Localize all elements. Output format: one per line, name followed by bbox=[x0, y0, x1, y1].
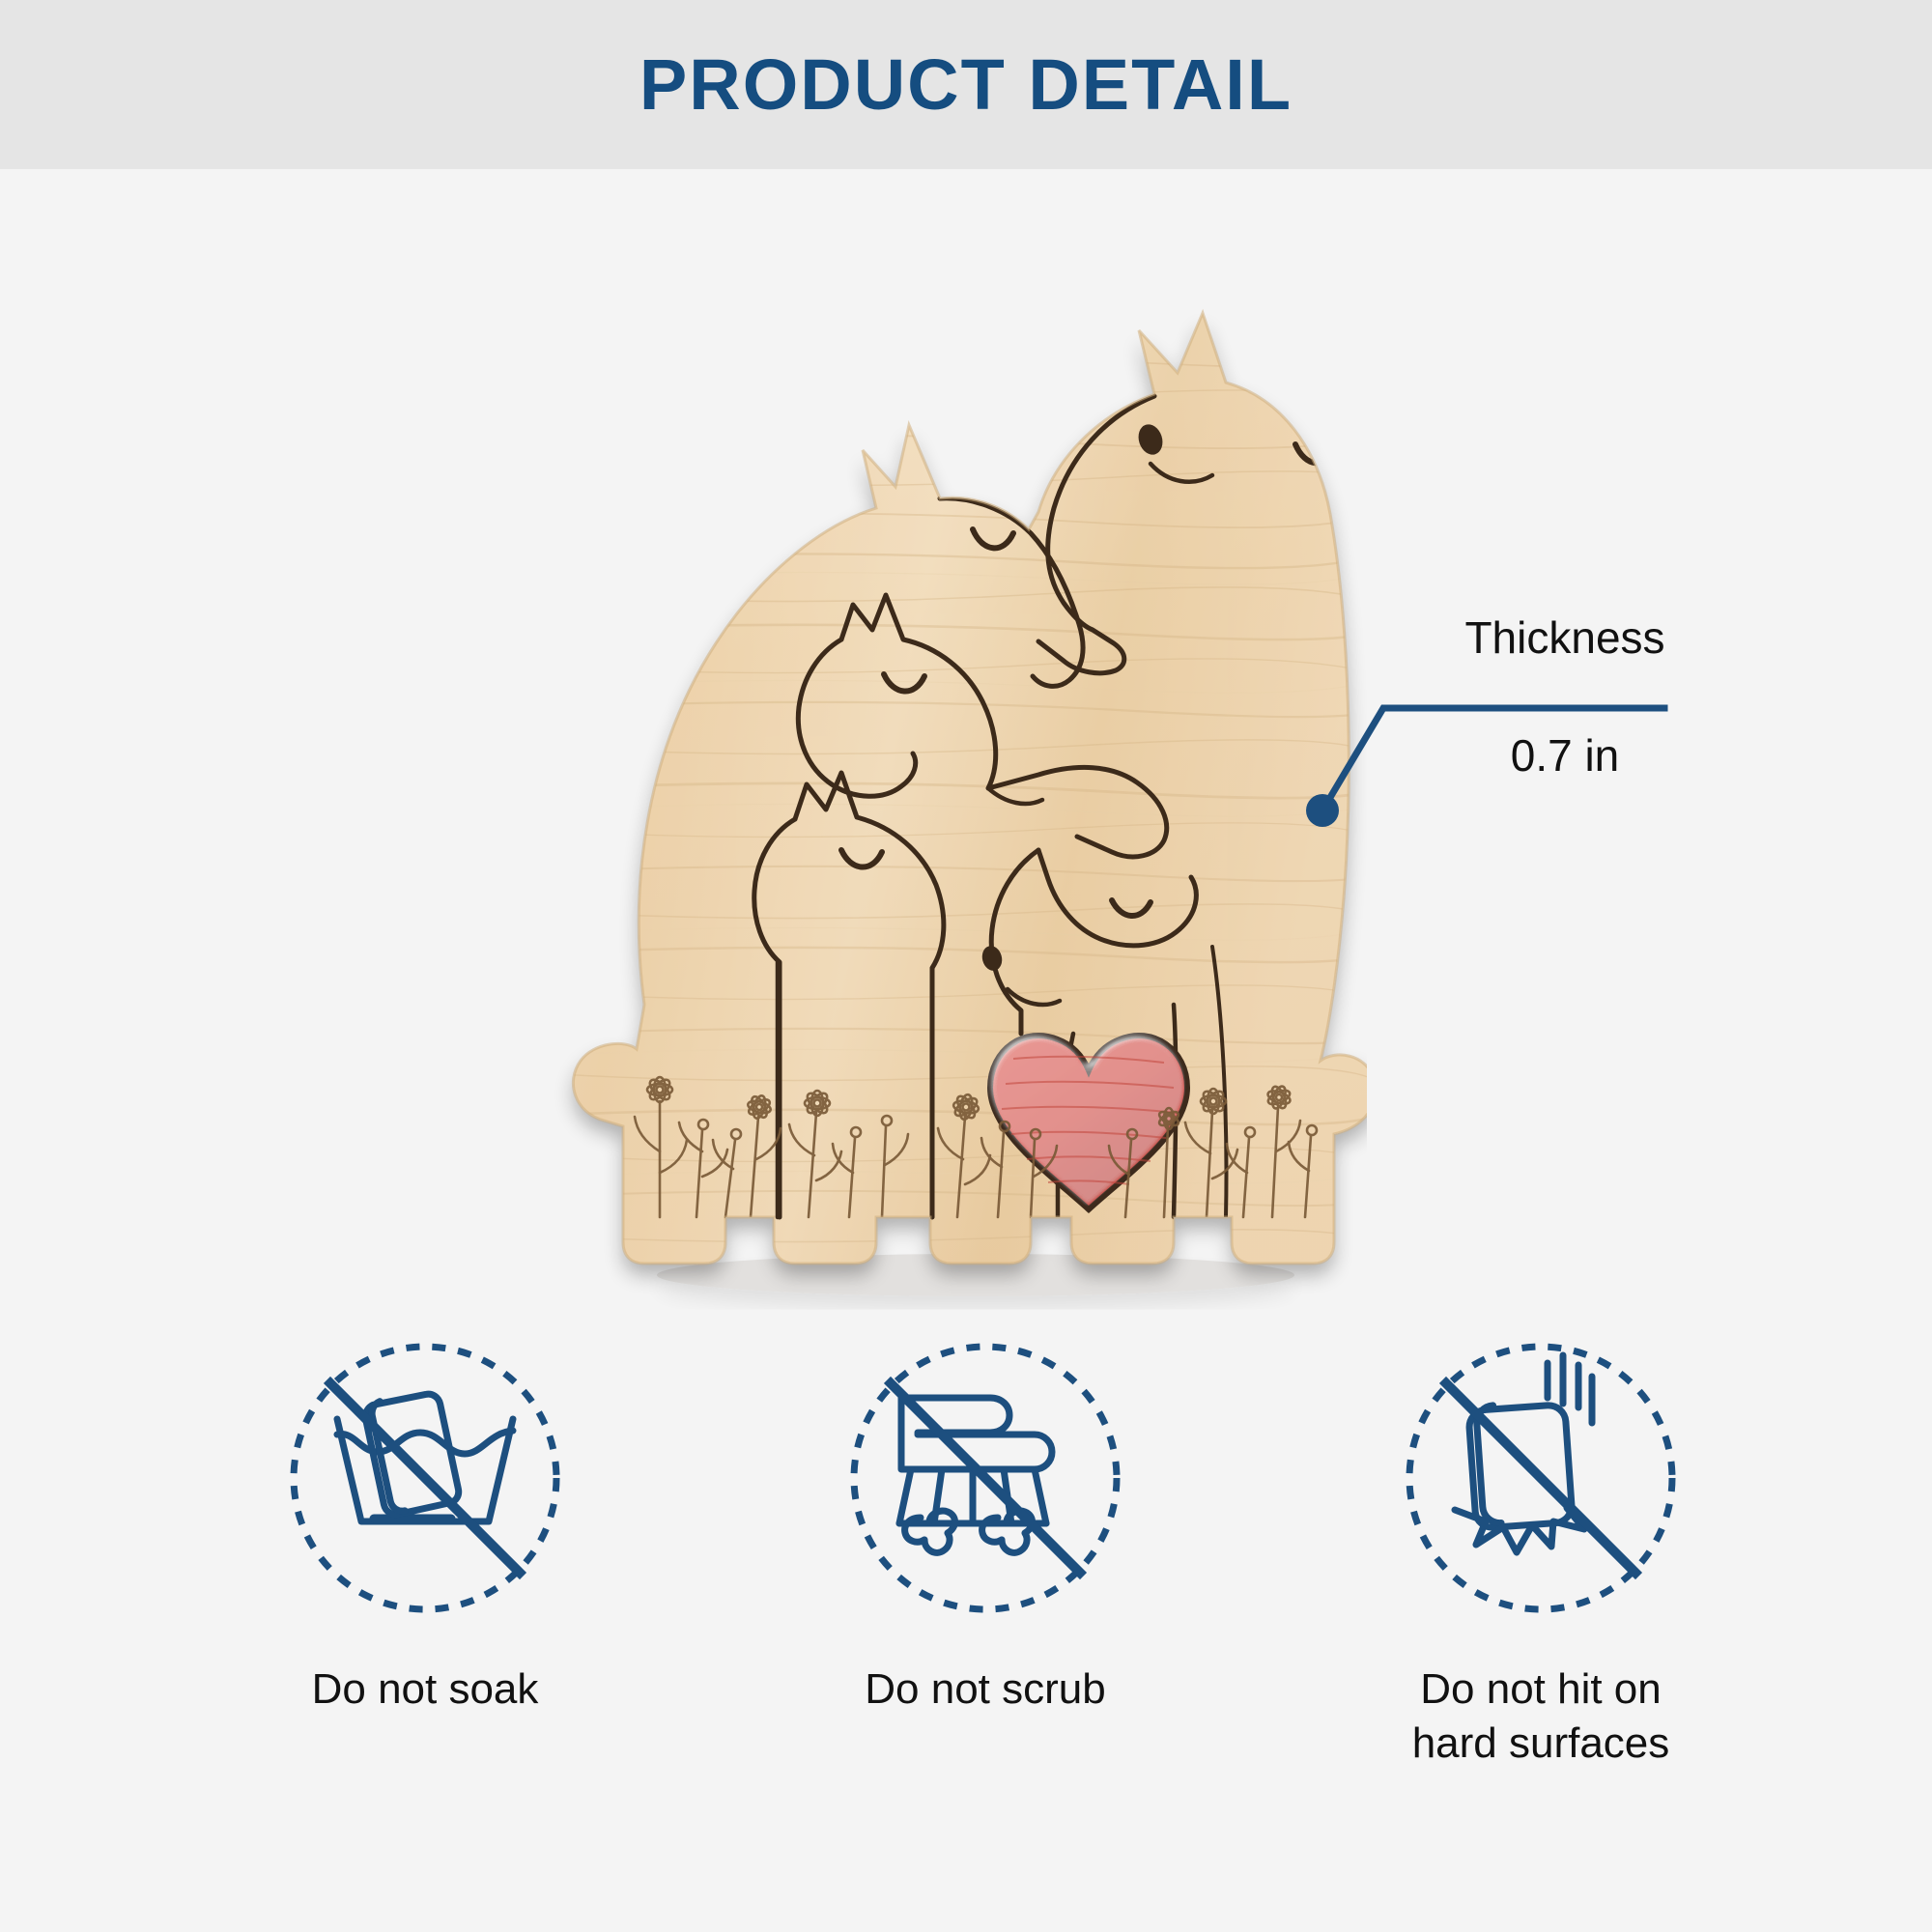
wooden-bear-family-carving bbox=[536, 270, 1367, 1314]
care-instructions-row: Do not soak bbox=[0, 1338, 1932, 1879]
care-item-no-scrub: Do not scrub bbox=[763, 1338, 1207, 1717]
product-stage: Thickness 0.7 in bbox=[0, 169, 1932, 1309]
thickness-value: 0.7 in bbox=[1401, 731, 1729, 781]
header-band: PRODUCT DETAIL bbox=[0, 0, 1932, 169]
bristle bbox=[899, 1469, 911, 1523]
no-hit-hard-surface-icon bbox=[1401, 1338, 1681, 1618]
care-label: Do not soak bbox=[203, 1662, 647, 1717]
bristle bbox=[1035, 1469, 1046, 1523]
page-title: PRODUCT DETAIL bbox=[639, 49, 1293, 121]
thickness-callout: Thickness 0.7 in bbox=[1285, 613, 1739, 855]
strike-through bbox=[330, 1383, 520, 1573]
brush-body bbox=[901, 1398, 1052, 1469]
no-soak-icon bbox=[285, 1338, 565, 1618]
leader-dot bbox=[1306, 794, 1339, 827]
care-item-no-hit: Do not hit on hard surfaces bbox=[1319, 1338, 1763, 1772]
water-wave bbox=[337, 1431, 513, 1454]
care-label: Do not hit on hard surfaces bbox=[1319, 1662, 1763, 1772]
impact-burst bbox=[1455, 1508, 1584, 1552]
no-scrub-icon bbox=[845, 1338, 1125, 1618]
care-label: Do not scrub bbox=[763, 1662, 1207, 1717]
care-item-no-soak: Do not soak bbox=[203, 1338, 647, 1717]
thickness-label: Thickness bbox=[1401, 613, 1729, 663]
carving-illustration bbox=[536, 270, 1367, 1314]
